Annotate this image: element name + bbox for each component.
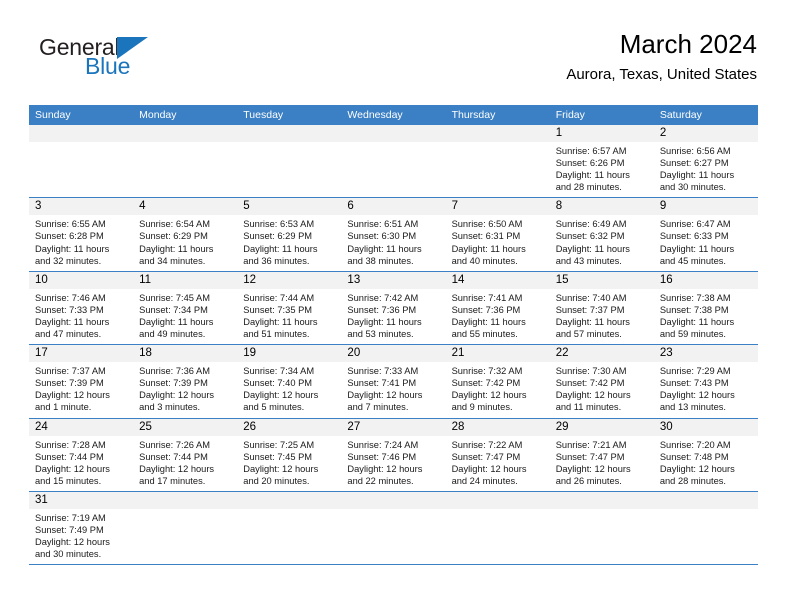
day-sunset-text: Sunset: 6:31 PM [452, 230, 544, 242]
calendar-day-cell[interactable]: 19Sunrise: 7:34 AMSunset: 7:40 PMDayligh… [237, 345, 341, 417]
day-daylight1-text: Daylight: 11 hours [660, 169, 752, 181]
calendar-day-cell-empty[interactable] [341, 125, 445, 197]
day-daylight1-text: Daylight: 11 hours [35, 316, 127, 328]
day-number [341, 125, 445, 142]
day-daylight2-text: and 32 minutes. [35, 255, 127, 267]
day-daylight1-text: Daylight: 12 hours [243, 389, 335, 401]
calendar-day-cell-empty[interactable] [133, 125, 237, 197]
weekday-header-thursday: Thursday [446, 105, 550, 125]
calendar-day-cell[interactable]: 21Sunrise: 7:32 AMSunset: 7:42 PMDayligh… [446, 345, 550, 417]
day-daylight1-text: Daylight: 12 hours [139, 463, 231, 475]
day-number: 29 [550, 419, 654, 436]
day-sunrise-text: Sunrise: 7:34 AM [243, 365, 335, 377]
day-daylight2-text: and 17 minutes. [139, 475, 231, 487]
weekday-header-row: SundayMondayTuesdayWednesdayThursdayFrid… [29, 105, 758, 125]
day-daylight2-text: and 11 minutes. [556, 401, 648, 413]
calendar-day-cell[interactable]: 11Sunrise: 7:45 AMSunset: 7:34 PMDayligh… [133, 272, 237, 344]
day-number [654, 492, 758, 509]
calendar-week-row: 31Sunrise: 7:19 AMSunset: 7:49 PMDayligh… [29, 491, 758, 564]
day-number: 5 [237, 198, 341, 215]
day-number [237, 125, 341, 142]
day-daylight1-text: Daylight: 12 hours [347, 463, 439, 475]
day-daylight1-text: Daylight: 11 hours [35, 243, 127, 255]
day-sunrise-text: Sunrise: 7:45 AM [139, 292, 231, 304]
day-daylight1-text: Daylight: 12 hours [35, 463, 127, 475]
day-sunrise-text: Sunrise: 6:57 AM [556, 145, 648, 157]
day-sunrise-text: Sunrise: 6:51 AM [347, 218, 439, 230]
day-sunset-text: Sunset: 6:26 PM [556, 157, 648, 169]
calendar-day-cell[interactable]: 20Sunrise: 7:33 AMSunset: 7:41 PMDayligh… [341, 345, 445, 417]
day-sun-info: Sunrise: 7:21 AMSunset: 7:47 PMDaylight:… [550, 436, 654, 491]
day-sunrise-text: Sunrise: 7:30 AM [556, 365, 648, 377]
day-sunrise-text: Sunrise: 7:32 AM [452, 365, 544, 377]
day-sunset-text: Sunset: 7:36 PM [347, 304, 439, 316]
day-sunrise-text: Sunrise: 7:26 AM [139, 439, 231, 451]
day-sun-info: Sunrise: 7:40 AMSunset: 7:37 PMDaylight:… [550, 289, 654, 344]
day-daylight1-text: Daylight: 11 hours [660, 316, 752, 328]
day-sunrise-text: Sunrise: 7:44 AM [243, 292, 335, 304]
day-sunset-text: Sunset: 7:44 PM [35, 451, 127, 463]
day-sunset-text: Sunset: 7:48 PM [660, 451, 752, 463]
day-sun-info: Sunrise: 7:28 AMSunset: 7:44 PMDaylight:… [29, 436, 133, 491]
day-daylight2-text: and 49 minutes. [139, 328, 231, 340]
calendar-day-cell[interactable]: 4Sunrise: 6:54 AMSunset: 6:29 PMDaylight… [133, 198, 237, 270]
calendar-day-cell[interactable]: 16Sunrise: 7:38 AMSunset: 7:38 PMDayligh… [654, 272, 758, 344]
weekday-header-tuesday: Tuesday [237, 105, 341, 125]
day-sunset-text: Sunset: 7:39 PM [35, 377, 127, 389]
day-daylight2-text: and 20 minutes. [243, 475, 335, 487]
day-daylight1-text: Daylight: 11 hours [139, 243, 231, 255]
day-daylight1-text: Daylight: 11 hours [452, 243, 544, 255]
day-daylight2-text: and 1 minute. [35, 401, 127, 413]
day-sunset-text: Sunset: 6:30 PM [347, 230, 439, 242]
day-number: 10 [29, 272, 133, 289]
calendar-day-cell[interactable]: 5Sunrise: 6:53 AMSunset: 6:29 PMDaylight… [237, 198, 341, 270]
calendar-day-cell[interactable]: 31Sunrise: 7:19 AMSunset: 7:49 PMDayligh… [29, 492, 133, 564]
day-sunset-text: Sunset: 6:27 PM [660, 157, 752, 169]
day-sunset-text: Sunset: 6:28 PM [35, 230, 127, 242]
day-sunrise-text: Sunrise: 7:29 AM [660, 365, 752, 377]
day-sunset-text: Sunset: 7:38 PM [660, 304, 752, 316]
day-sunset-text: Sunset: 7:40 PM [243, 377, 335, 389]
calendar-day-cell-empty[interactable] [446, 125, 550, 197]
day-sun-info: Sunrise: 7:32 AMSunset: 7:42 PMDaylight:… [446, 362, 550, 417]
day-daylight2-text: and 36 minutes. [243, 255, 335, 267]
day-sunrise-text: Sunrise: 6:47 AM [660, 218, 752, 230]
day-number: 21 [446, 345, 550, 362]
day-sun-info: Sunrise: 6:51 AMSunset: 6:30 PMDaylight:… [341, 215, 445, 270]
day-sunset-text: Sunset: 7:42 PM [452, 377, 544, 389]
calendar-day-cell[interactable]: 6Sunrise: 6:51 AMSunset: 6:30 PMDaylight… [341, 198, 445, 270]
day-daylight2-text: and 9 minutes. [452, 401, 544, 413]
weekday-header-saturday: Saturday [654, 105, 758, 125]
day-number [133, 125, 237, 142]
day-sun-info: Sunrise: 6:56 AMSunset: 6:27 PMDaylight:… [654, 142, 758, 197]
calendar-day-cell[interactable]: 3Sunrise: 6:55 AMSunset: 6:28 PMDaylight… [29, 198, 133, 270]
day-daylight1-text: Daylight: 12 hours [556, 389, 648, 401]
day-sunset-text: Sunset: 7:33 PM [35, 304, 127, 316]
general-blue-logo: General Blue [35, 34, 255, 90]
day-daylight1-text: Daylight: 12 hours [452, 463, 544, 475]
calendar-day-cell[interactable]: 18Sunrise: 7:36 AMSunset: 7:39 PMDayligh… [133, 345, 237, 417]
day-sunrise-text: Sunrise: 7:46 AM [35, 292, 127, 304]
calendar-weeks: 1Sunrise: 6:57 AMSunset: 6:26 PMDaylight… [29, 125, 758, 564]
day-daylight2-text: and 55 minutes. [452, 328, 544, 340]
day-sunrise-text: Sunrise: 7:41 AM [452, 292, 544, 304]
day-daylight1-text: Daylight: 12 hours [660, 463, 752, 475]
day-sun-info: Sunrise: 7:44 AMSunset: 7:35 PMDaylight:… [237, 289, 341, 344]
calendar-week-row: 1Sunrise: 6:57 AMSunset: 6:26 PMDaylight… [29, 125, 758, 197]
day-sunrise-text: Sunrise: 7:21 AM [556, 439, 648, 451]
day-number: 12 [237, 272, 341, 289]
calendar-day-cell[interactable]: 8Sunrise: 6:49 AMSunset: 6:32 PMDaylight… [550, 198, 654, 270]
day-number: 3 [29, 198, 133, 215]
calendar-day-cell[interactable]: 27Sunrise: 7:24 AMSunset: 7:46 PMDayligh… [341, 419, 445, 491]
calendar-week-row: 10Sunrise: 7:46 AMSunset: 7:33 PMDayligh… [29, 271, 758, 344]
day-sunrise-text: Sunrise: 7:22 AM [452, 439, 544, 451]
day-sunset-text: Sunset: 6:29 PM [243, 230, 335, 242]
day-sunrise-text: Sunrise: 7:38 AM [660, 292, 752, 304]
day-daylight2-text: and 30 minutes. [660, 181, 752, 193]
calendar-day-cell-empty[interactable] [654, 492, 758, 564]
calendar-day-cell[interactable]: 10Sunrise: 7:46 AMSunset: 7:33 PMDayligh… [29, 272, 133, 344]
day-daylight2-text: and 51 minutes. [243, 328, 335, 340]
day-sunset-text: Sunset: 6:33 PM [660, 230, 752, 242]
day-number [446, 492, 550, 509]
day-sun-info: Sunrise: 7:41 AMSunset: 7:36 PMDaylight:… [446, 289, 550, 344]
day-sunrise-text: Sunrise: 7:42 AM [347, 292, 439, 304]
day-sunset-text: Sunset: 7:41 PM [347, 377, 439, 389]
day-number: 23 [654, 345, 758, 362]
day-sun-info: Sunrise: 7:30 AMSunset: 7:42 PMDaylight:… [550, 362, 654, 417]
day-daylight1-text: Daylight: 11 hours [243, 243, 335, 255]
day-daylight1-text: Daylight: 12 hours [452, 389, 544, 401]
day-number: 7 [446, 198, 550, 215]
day-daylight2-text: and 45 minutes. [660, 255, 752, 267]
day-number: 9 [654, 198, 758, 215]
day-sun-info: Sunrise: 6:47 AMSunset: 6:33 PMDaylight:… [654, 215, 758, 270]
day-sun-info: Sunrise: 7:22 AMSunset: 7:47 PMDaylight:… [446, 436, 550, 491]
day-number [237, 492, 341, 509]
day-number: 1 [550, 125, 654, 142]
day-daylight2-text: and 38 minutes. [347, 255, 439, 267]
day-number [29, 125, 133, 142]
day-number: 30 [654, 419, 758, 436]
day-sunrise-text: Sunrise: 7:37 AM [35, 365, 127, 377]
day-daylight2-text: and 30 minutes. [35, 548, 127, 560]
day-sun-info: Sunrise: 7:36 AMSunset: 7:39 PMDaylight:… [133, 362, 237, 417]
calendar-day-cell[interactable]: 29Sunrise: 7:21 AMSunset: 7:47 PMDayligh… [550, 419, 654, 491]
day-sun-info: Sunrise: 7:33 AMSunset: 7:41 PMDaylight:… [341, 362, 445, 417]
day-sun-info: Sunrise: 6:57 AMSunset: 6:26 PMDaylight:… [550, 142, 654, 197]
day-number [341, 492, 445, 509]
calendar-day-cell[interactable]: 12Sunrise: 7:44 AMSunset: 7:35 PMDayligh… [237, 272, 341, 344]
day-daylight2-text: and 5 minutes. [243, 401, 335, 413]
weekday-header-sunday: Sunday [29, 105, 133, 125]
day-sun-info: Sunrise: 7:46 AMSunset: 7:33 PMDaylight:… [29, 289, 133, 344]
calendar-day-cell[interactable]: 24Sunrise: 7:28 AMSunset: 7:44 PMDayligh… [29, 419, 133, 491]
day-sun-info: Sunrise: 7:19 AMSunset: 7:49 PMDaylight:… [29, 509, 133, 564]
day-sun-info: Sunrise: 7:24 AMSunset: 7:46 PMDaylight:… [341, 436, 445, 491]
weekday-header-wednesday: Wednesday [341, 105, 445, 125]
weekday-header-monday: Monday [133, 105, 237, 125]
day-daylight1-text: Daylight: 11 hours [556, 169, 648, 181]
day-daylight1-text: Daylight: 11 hours [556, 243, 648, 255]
day-daylight2-text: and 43 minutes. [556, 255, 648, 267]
day-sun-info: Sunrise: 6:50 AMSunset: 6:31 PMDaylight:… [446, 215, 550, 270]
day-number: 4 [133, 198, 237, 215]
calendar-day-cell[interactable]: 30Sunrise: 7:20 AMSunset: 7:48 PMDayligh… [654, 419, 758, 491]
page-title: March 2024 [566, 28, 757, 60]
day-number: 24 [29, 419, 133, 436]
day-number: 2 [654, 125, 758, 142]
day-sun-info: Sunrise: 6:55 AMSunset: 6:28 PMDaylight:… [29, 215, 133, 270]
calendar-day-cell-empty[interactable] [237, 492, 341, 564]
day-sunset-text: Sunset: 7:47 PM [556, 451, 648, 463]
day-daylight1-text: Daylight: 11 hours [347, 243, 439, 255]
day-sun-info: Sunrise: 7:20 AMSunset: 7:48 PMDaylight:… [654, 436, 758, 491]
day-sunrise-text: Sunrise: 6:56 AM [660, 145, 752, 157]
day-sun-info: Sunrise: 7:37 AMSunset: 7:39 PMDaylight:… [29, 362, 133, 417]
day-daylight1-text: Daylight: 12 hours [243, 463, 335, 475]
day-sunset-text: Sunset: 7:46 PM [347, 451, 439, 463]
day-number: 28 [446, 419, 550, 436]
day-sunset-text: Sunset: 7:49 PM [35, 524, 127, 536]
day-number: 22 [550, 345, 654, 362]
day-daylight2-text: and 26 minutes. [556, 475, 648, 487]
calendar-day-cell-empty[interactable] [550, 492, 654, 564]
day-number: 16 [654, 272, 758, 289]
day-number: 19 [237, 345, 341, 362]
calendar-day-cell[interactable]: 23Sunrise: 7:29 AMSunset: 7:43 PMDayligh… [654, 345, 758, 417]
day-number: 11 [133, 272, 237, 289]
day-sun-info: Sunrise: 7:34 AMSunset: 7:40 PMDaylight:… [237, 362, 341, 417]
day-sun-info: Sunrise: 7:45 AMSunset: 7:34 PMDaylight:… [133, 289, 237, 344]
day-sunrise-text: Sunrise: 7:19 AM [35, 512, 127, 524]
calendar-day-cell[interactable]: 17Sunrise: 7:37 AMSunset: 7:39 PMDayligh… [29, 345, 133, 417]
day-number: 20 [341, 345, 445, 362]
day-sunrise-text: Sunrise: 7:24 AM [347, 439, 439, 451]
day-daylight1-text: Daylight: 11 hours [556, 316, 648, 328]
calendar-day-cell[interactable]: 26Sunrise: 7:25 AMSunset: 7:45 PMDayligh… [237, 419, 341, 491]
day-sunrise-text: Sunrise: 7:40 AM [556, 292, 648, 304]
day-number: 14 [446, 272, 550, 289]
calendar-day-cell[interactable]: 13Sunrise: 7:42 AMSunset: 7:36 PMDayligh… [341, 272, 445, 344]
calendar-day-cell[interactable]: 15Sunrise: 7:40 AMSunset: 7:37 PMDayligh… [550, 272, 654, 344]
day-number: 13 [341, 272, 445, 289]
day-daylight2-text: and 28 minutes. [660, 475, 752, 487]
day-sunset-text: Sunset: 7:39 PM [139, 377, 231, 389]
day-number: 31 [29, 492, 133, 509]
day-daylight1-text: Daylight: 12 hours [139, 389, 231, 401]
calendar-day-cell[interactable]: 7Sunrise: 6:50 AMSunset: 6:31 PMDaylight… [446, 198, 550, 270]
day-sun-info: Sunrise: 7:26 AMSunset: 7:44 PMDaylight:… [133, 436, 237, 491]
day-daylight1-text: Daylight: 12 hours [35, 389, 127, 401]
day-daylight2-text: and 40 minutes. [452, 255, 544, 267]
weekday-header-friday: Friday [550, 105, 654, 125]
day-sunset-text: Sunset: 7:43 PM [660, 377, 752, 389]
day-daylight2-text: and 59 minutes. [660, 328, 752, 340]
day-daylight2-text: and 57 minutes. [556, 328, 648, 340]
day-number [133, 492, 237, 509]
title-block: March 2024 Aurora, Texas, United States [566, 28, 757, 86]
calendar-day-cell[interactable]: 25Sunrise: 7:26 AMSunset: 7:44 PMDayligh… [133, 419, 237, 491]
calendar-day-cell[interactable]: 28Sunrise: 7:22 AMSunset: 7:47 PMDayligh… [446, 419, 550, 491]
calendar-day-cell[interactable]: 1Sunrise: 6:57 AMSunset: 6:26 PMDaylight… [550, 125, 654, 197]
day-sun-info: Sunrise: 7:29 AMSunset: 7:43 PMDaylight:… [654, 362, 758, 417]
calendar-day-cell[interactable]: 2Sunrise: 6:56 AMSunset: 6:27 PMDaylight… [654, 125, 758, 197]
day-sunrise-text: Sunrise: 7:25 AM [243, 439, 335, 451]
day-daylight2-text: and 34 minutes. [139, 255, 231, 267]
day-sunset-text: Sunset: 6:32 PM [556, 230, 648, 242]
calendar-day-cell-empty[interactable] [446, 492, 550, 564]
day-daylight2-text: and 3 minutes. [139, 401, 231, 413]
day-sunset-text: Sunset: 7:47 PM [452, 451, 544, 463]
day-daylight2-text: and 22 minutes. [347, 475, 439, 487]
day-sunset-text: Sunset: 7:36 PM [452, 304, 544, 316]
page-subtitle: Aurora, Texas, United States [566, 64, 757, 86]
day-daylight1-text: Daylight: 11 hours [660, 243, 752, 255]
day-sunset-text: Sunset: 7:35 PM [243, 304, 335, 316]
day-number: 15 [550, 272, 654, 289]
day-sunrise-text: Sunrise: 6:55 AM [35, 218, 127, 230]
calendar-week-row: 17Sunrise: 7:37 AMSunset: 7:39 PMDayligh… [29, 344, 758, 417]
calendar-day-cell[interactable]: 22Sunrise: 7:30 AMSunset: 7:42 PMDayligh… [550, 345, 654, 417]
day-sunrise-text: Sunrise: 7:33 AM [347, 365, 439, 377]
calendar-day-cell-empty[interactable] [341, 492, 445, 564]
day-sun-info: Sunrise: 6:54 AMSunset: 6:29 PMDaylight:… [133, 215, 237, 270]
day-sunset-text: Sunset: 7:44 PM [139, 451, 231, 463]
day-daylight1-text: Daylight: 12 hours [347, 389, 439, 401]
logo-text-blue: Blue [85, 53, 130, 80]
day-sun-info: Sunrise: 7:25 AMSunset: 7:45 PMDaylight:… [237, 436, 341, 491]
day-sunrise-text: Sunrise: 6:53 AM [243, 218, 335, 230]
day-daylight1-text: Daylight: 12 hours [35, 536, 127, 548]
day-daylight2-text: and 53 minutes. [347, 328, 439, 340]
day-sun-info: Sunrise: 7:42 AMSunset: 7:36 PMDaylight:… [341, 289, 445, 344]
day-number: 26 [237, 419, 341, 436]
day-number: 18 [133, 345, 237, 362]
day-sunset-text: Sunset: 7:34 PM [139, 304, 231, 316]
calendar-week-row: 24Sunrise: 7:28 AMSunset: 7:44 PMDayligh… [29, 418, 758, 491]
day-sunset-text: Sunset: 7:45 PM [243, 451, 335, 463]
calendar-day-cell-empty[interactable] [29, 125, 133, 197]
day-sunrise-text: Sunrise: 6:54 AM [139, 218, 231, 230]
day-sun-info: Sunrise: 7:38 AMSunset: 7:38 PMDaylight:… [654, 289, 758, 344]
calendar-grid: SundayMondayTuesdayWednesdayThursdayFrid… [29, 105, 758, 565]
day-number: 8 [550, 198, 654, 215]
page-header: General Blue March 2024 Aurora, Texas, U… [35, 28, 757, 98]
calendar-bottom-rule [29, 564, 758, 565]
day-number [550, 492, 654, 509]
calendar-day-cell[interactable]: 9Sunrise: 6:47 AMSunset: 6:33 PMDaylight… [654, 198, 758, 270]
day-number: 25 [133, 419, 237, 436]
day-sunrise-text: Sunrise: 7:36 AM [139, 365, 231, 377]
day-daylight1-text: Daylight: 11 hours [243, 316, 335, 328]
calendar-week-row: 3Sunrise: 6:55 AMSunset: 6:28 PMDaylight… [29, 197, 758, 270]
day-daylight2-text: and 13 minutes. [660, 401, 752, 413]
calendar-day-cell[interactable]: 14Sunrise: 7:41 AMSunset: 7:36 PMDayligh… [446, 272, 550, 344]
day-daylight2-text: and 28 minutes. [556, 181, 648, 193]
day-daylight1-text: Daylight: 12 hours [660, 389, 752, 401]
day-sunrise-text: Sunrise: 7:20 AM [660, 439, 752, 451]
day-sun-info: Sunrise: 6:53 AMSunset: 6:29 PMDaylight:… [237, 215, 341, 270]
day-number [446, 125, 550, 142]
day-daylight1-text: Daylight: 12 hours [556, 463, 648, 475]
day-daylight2-text: and 47 minutes. [35, 328, 127, 340]
day-sunset-text: Sunset: 7:42 PM [556, 377, 648, 389]
day-daylight2-text: and 15 minutes. [35, 475, 127, 487]
day-daylight1-text: Daylight: 11 hours [452, 316, 544, 328]
day-sunset-text: Sunset: 7:37 PM [556, 304, 648, 316]
day-sunset-text: Sunset: 6:29 PM [139, 230, 231, 242]
day-daylight1-text: Daylight: 11 hours [139, 316, 231, 328]
day-daylight2-text: and 24 minutes. [452, 475, 544, 487]
day-sunrise-text: Sunrise: 6:49 AM [556, 218, 648, 230]
calendar-day-cell-empty[interactable] [133, 492, 237, 564]
day-sun-info: Sunrise: 6:49 AMSunset: 6:32 PMDaylight:… [550, 215, 654, 270]
day-number: 6 [341, 198, 445, 215]
day-number: 27 [341, 419, 445, 436]
day-number: 17 [29, 345, 133, 362]
day-daylight1-text: Daylight: 11 hours [347, 316, 439, 328]
calendar-page: General Blue March 2024 Aurora, Texas, U… [0, 0, 792, 612]
day-daylight2-text: and 7 minutes. [347, 401, 439, 413]
day-sunrise-text: Sunrise: 7:28 AM [35, 439, 127, 451]
day-sunrise-text: Sunrise: 6:50 AM [452, 218, 544, 230]
calendar-day-cell-empty[interactable] [237, 125, 341, 197]
